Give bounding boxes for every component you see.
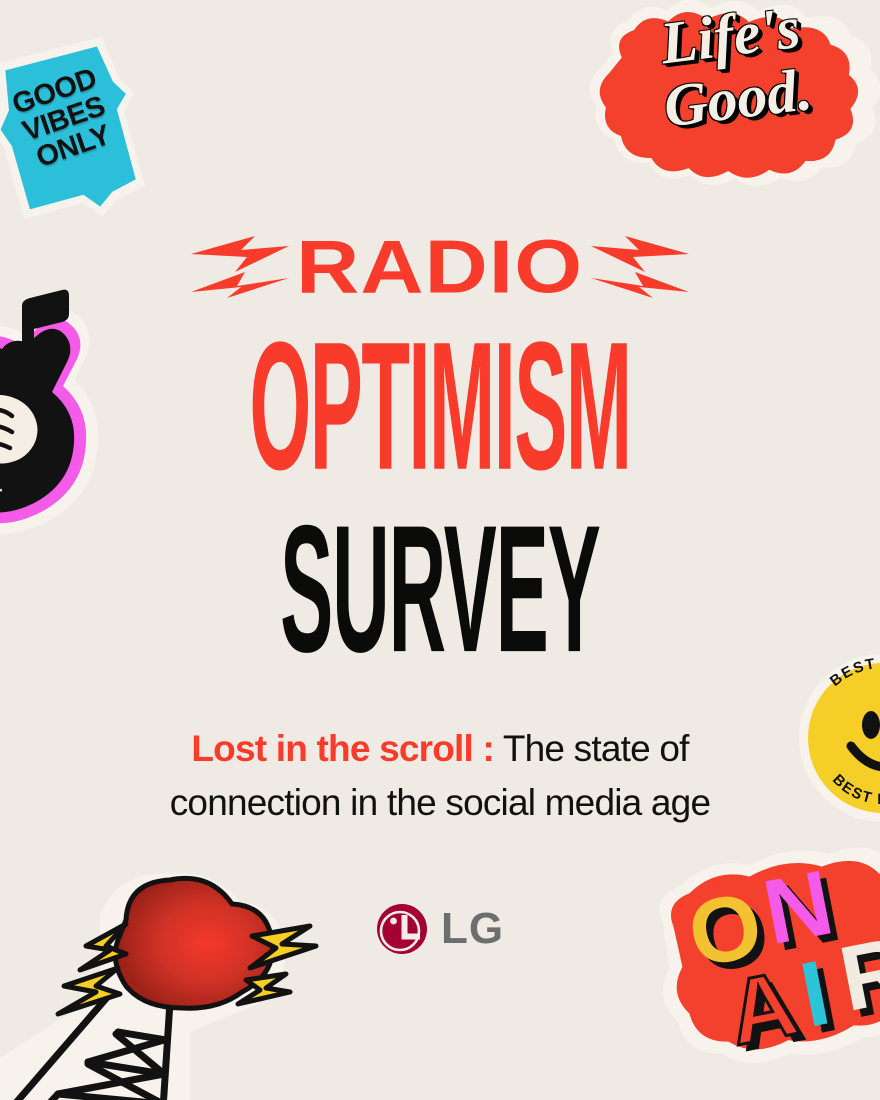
on-air-sticker-shape: O O N N A A I I R R xyxy=(662,852,880,1067)
radio-tower-sticker-shape xyxy=(14,862,324,1100)
title-survey: SURVEY xyxy=(280,498,600,681)
title-radio: RADIO xyxy=(296,229,583,304)
double-lightning-bolt-left-icon xyxy=(588,232,691,302)
subtitle-line-1: Lost in the scroll : The state of xyxy=(0,722,880,776)
poster-canvas: GOOD VIBES ONLY Life's Good. xyxy=(0,0,880,1100)
sticker-on-air: O O N N A A I I R R xyxy=(662,852,880,1067)
subtitle-highlight: Lost in the scroll : xyxy=(191,728,494,769)
lg-wordmark: LG xyxy=(441,907,504,951)
sticker-good-vibes-only: GOOD VIBES ONLY xyxy=(0,28,154,228)
smiley-sticker-shape: BEST FRIEND EVER BEST FRIEND EVER xyxy=(795,650,880,825)
lg-face-mark-icon xyxy=(376,903,428,955)
double-lightning-bolt-right-icon xyxy=(189,232,292,302)
radio-title-row: RADIO xyxy=(0,228,880,306)
subtitle-line-2: connection in the social media age xyxy=(0,776,880,830)
sticker-best-friend-smiley: BEST FRIEND EVER BEST FRIEND EVER xyxy=(795,650,880,825)
subtitle-rest-line-1: The state of xyxy=(494,728,689,769)
title-survey-wrap: SURVEY xyxy=(0,498,880,683)
sticker-radio-tower xyxy=(14,862,324,1100)
title-optimism: OPTIMISM xyxy=(249,312,630,499)
poster-subtitle: Lost in the scroll : The state of connec… xyxy=(0,722,880,830)
sticker-lifes-good: Life's Good. xyxy=(574,0,880,192)
title-optimism-wrap: OPTIMISM xyxy=(0,312,880,502)
